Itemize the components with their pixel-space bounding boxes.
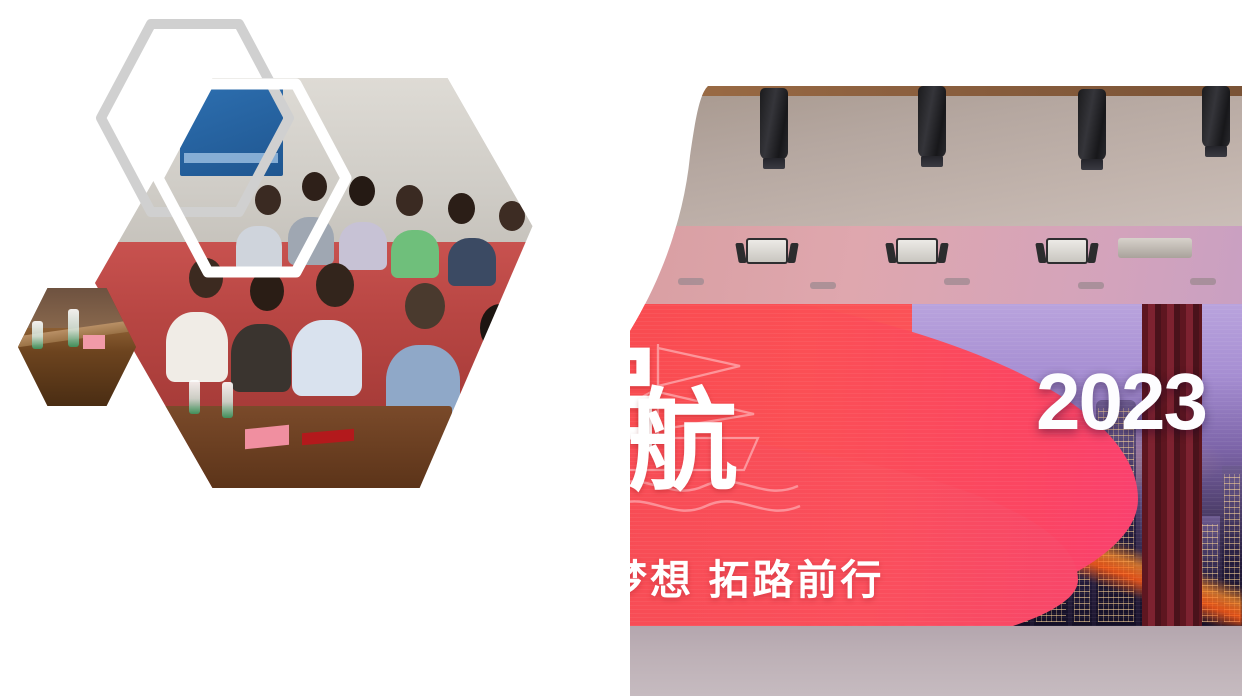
water-bottle [32, 321, 43, 349]
ceiling-vent [678, 278, 704, 285]
ceiling-spotlight-icon [760, 88, 788, 160]
audience-person-body [292, 320, 362, 396]
audience-person-body [448, 238, 496, 286]
ceiling-vent [1190, 278, 1216, 285]
ceiling-spotlight-icon [1078, 89, 1106, 161]
audience-person [499, 201, 525, 231]
audience-person [448, 193, 475, 224]
slide-canvas: 启 航 怀揣梦想 拓路前行 建筑设备系企业宣讲会 2023 [0, 0, 1242, 696]
audience-person-body [231, 324, 291, 392]
ceiling-vent [944, 278, 970, 285]
ceiling-spotlight-icon [1202, 86, 1230, 148]
hex-outline-white [152, 78, 352, 278]
ceiling-vent [810, 282, 836, 289]
wall-light-icon [1046, 238, 1088, 264]
headline-char-hang: 航 [628, 388, 738, 498]
audience-person [405, 283, 445, 329]
wall-light-icon [746, 238, 788, 264]
audience-person [349, 176, 375, 206]
water-bottle [222, 382, 233, 418]
year-text: 2023 [1036, 356, 1206, 448]
audience-person-body [391, 230, 439, 278]
ceiling-spotlight-icon [918, 86, 946, 158]
wall-light-icon [896, 238, 938, 264]
ceiling-vent [1078, 282, 1104, 289]
water-bottle [68, 309, 79, 347]
ceiling-trim [378, 86, 1242, 96]
name-card [83, 335, 105, 349]
audience-person [396, 185, 423, 216]
projector-icon [1118, 238, 1192, 258]
audience-person-body [166, 312, 228, 382]
stage-curtain-right [1142, 304, 1202, 626]
front-desk [161, 406, 452, 488]
water-bottle [189, 380, 200, 414]
